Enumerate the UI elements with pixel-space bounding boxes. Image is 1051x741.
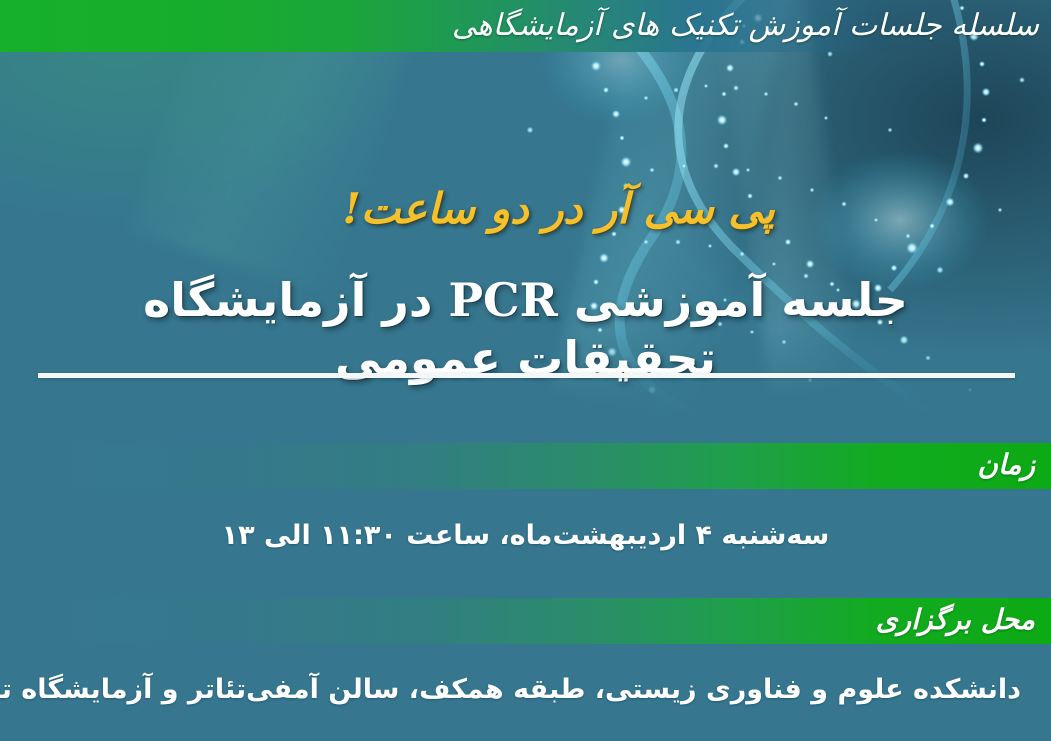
title-divider <box>38 373 1015 378</box>
section-label-venue: محل برگزاری <box>876 598 1035 644</box>
section-label-time: زمان <box>977 443 1035 489</box>
top-banner: سلسله جلسات آموزش تکنیک های آزمایشگاهی <box>0 0 1051 52</box>
page-title: جلسه آموزشی PCR در آزمایشگاه تحقیقات عمو… <box>38 272 1013 388</box>
event-poster: سلسله جلسات آموزش تکنیک های آزمایشگاهی پ… <box>0 0 1051 741</box>
section-bar-venue: محل برگزاری <box>0 598 1051 644</box>
section-bar-time: زمان <box>0 443 1051 489</box>
top-banner-text: سلسله جلسات آموزش تکنیک های آزمایشگاهی <box>452 1 1039 51</box>
venue-detail-text: دانشکده علوم و فناوری زیستی، طبقه همکف، … <box>30 674 1021 705</box>
title-latin-pcr: PCR <box>448 273 557 327</box>
title-prefix: جلسه آموزشی <box>558 273 908 327</box>
time-detail-text: سه‌شنبه ۴ اردیبهشت‌ماه، ساعت ۱۱:۳۰ الی ۱… <box>30 520 1021 551</box>
tagline: پی سی آر در دو ساعت! <box>342 184 775 233</box>
